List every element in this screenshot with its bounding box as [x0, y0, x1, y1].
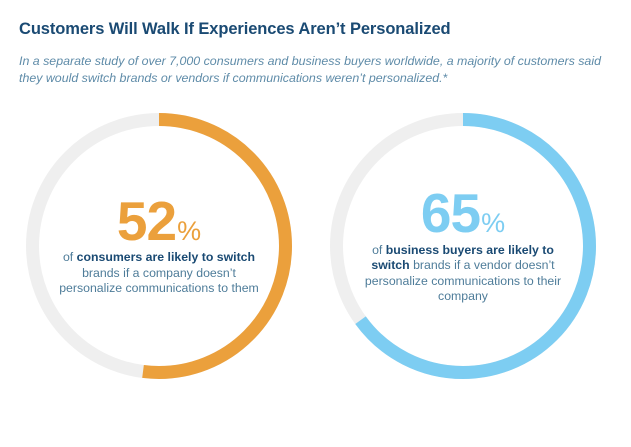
- caption-prefix-consumers: of: [63, 250, 77, 264]
- caption-business-buyers: of business buyers are likely to switch …: [354, 243, 572, 305]
- stat-consumers: 52 %: [117, 195, 201, 247]
- donut-chart-consumers: 52 % of consumers are likely to switch b…: [26, 113, 292, 379]
- caption-prefix-business-buyers: of: [372, 243, 386, 257]
- caption-bold-consumers: consumers are likely to switch: [77, 250, 255, 264]
- caption-suffix-consumers: brands if a company doesn’t personalize …: [59, 266, 259, 296]
- page-title: Customers Will Walk If Experiences Aren’…: [19, 20, 451, 39]
- percent-sign-business-buyers: %: [481, 210, 505, 237]
- donut-chart-business-buyers: 65 % of business buyers are likely to sw…: [330, 113, 596, 379]
- donut-center-consumers: 52 % of consumers are likely to switch b…: [26, 113, 292, 379]
- stat-number-business-buyers: 65: [421, 187, 480, 239]
- stat-business-buyers: 65 %: [421, 187, 505, 239]
- page-subtitle: In a separate study of over 7,000 consum…: [19, 53, 609, 87]
- caption-consumers: of consumers are likely to switch brands…: [50, 250, 268, 297]
- stat-number-consumers: 52: [117, 195, 176, 247]
- percent-sign-consumers: %: [177, 218, 201, 245]
- donut-center-business-buyers: 65 % of business buyers are likely to sw…: [330, 113, 596, 379]
